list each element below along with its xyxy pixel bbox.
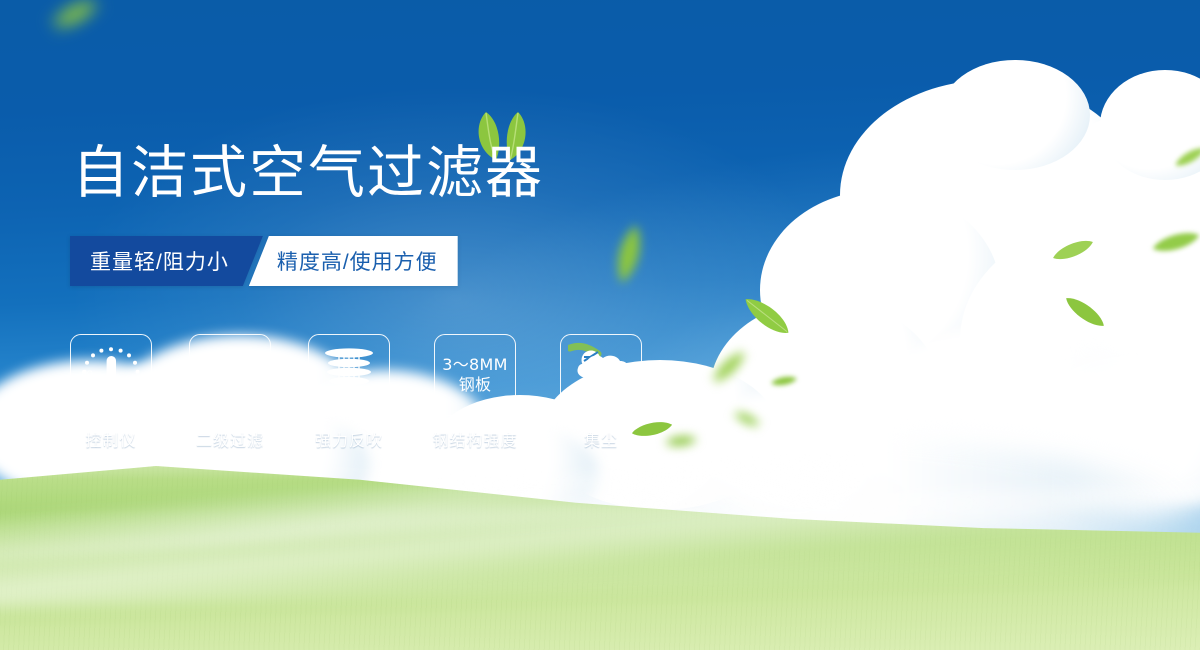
feature-value-line2: Air	[591, 386, 611, 403]
feature-label: 二级过滤	[196, 427, 264, 451]
content-layer: 自洁式空气过滤器 重量轻/阻力小 精度高/使用方便	[0, 0, 1200, 650]
feature-label: 钢结构强度	[432, 427, 517, 451]
feature-label: 强力反吹	[315, 427, 383, 451]
gauge-off-label: OFF	[122, 392, 137, 401]
tagline-badge-left: 重量轻/阻力小	[70, 236, 263, 286]
feature-item[interactable]: NO OFF 控制仪	[70, 334, 152, 451]
feature-icon-box	[308, 334, 390, 416]
feature-label: 控制仪	[85, 427, 136, 451]
feature-icon-box: 0.6～0.8 MPA	[189, 334, 271, 416]
tagline-badge-right: 精度高/使用方便	[249, 236, 458, 286]
feature-item[interactable]: 0.6～0.8 MPA 二级过滤	[189, 334, 271, 451]
gauge-icon: NO OFF	[78, 343, 144, 407]
feature-value-line1: 0.6～0.8	[196, 355, 265, 375]
feature-icon-box: 3～8MM 钢板	[434, 334, 516, 416]
filter-stack-icon	[319, 344, 379, 406]
feature-icon-box: Air	[560, 334, 642, 416]
page-title: 自洁式空气过滤器	[72, 143, 544, 205]
gauge-on-label: NO	[82, 369, 93, 378]
feature-value-line2: MPA	[213, 375, 247, 395]
feature-label: 集尘	[584, 427, 618, 451]
feature-list: NO OFF 控制仪 0.6～0.8 MPA 二级过滤	[70, 334, 642, 451]
air-cloud-icon	[568, 342, 634, 388]
feature-item[interactable]: 强力反吹	[308, 334, 390, 451]
banner-root: 自洁式空气过滤器 重量轻/阻力小 精度高/使用方便	[0, 0, 1200, 650]
feature-icon-box: NO OFF	[70, 334, 152, 416]
feature-value-line1: 3～8MM	[442, 355, 507, 375]
feature-item[interactable]: 3～8MM 钢板 钢结构强度	[427, 334, 523, 451]
tagline-bar: 重量轻/阻力小 精度高/使用方便	[70, 236, 458, 286]
feature-value-line2: 钢板	[459, 375, 492, 395]
